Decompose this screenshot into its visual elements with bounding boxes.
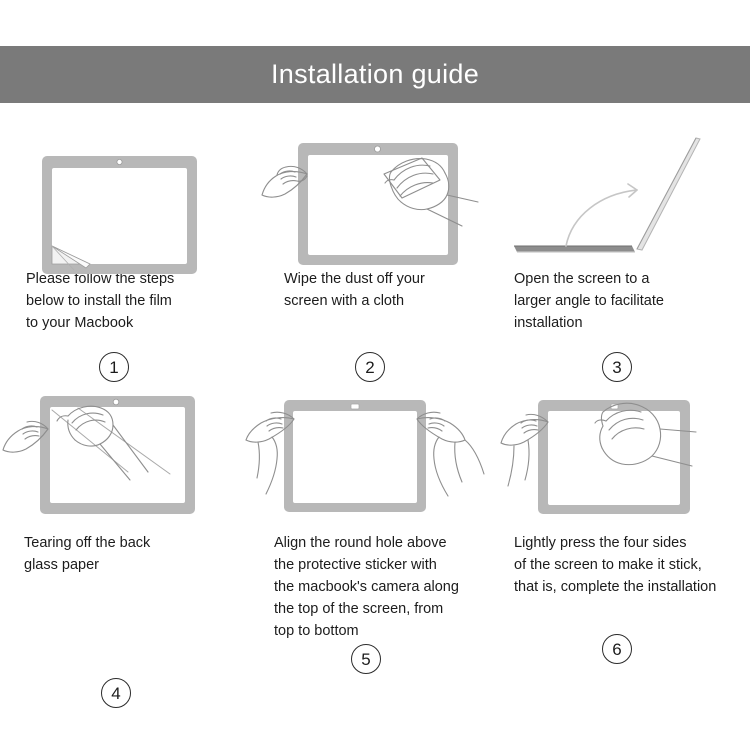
step-card-1: Please follow the steps below to install…	[0, 118, 250, 382]
step-3-caption: Open the screen to a larger angle to fac…	[500, 268, 750, 338]
two-hands-aligning-film-over-screen-icon	[250, 382, 500, 532]
step-2-figure	[250, 118, 500, 268]
hands-tearing-off-back-paper-icon	[0, 382, 250, 532]
step-number-badge: 6	[602, 634, 632, 664]
page-title: Installation guide	[271, 59, 479, 90]
step-6-caption: Lightly press the four sides of the scre…	[500, 532, 750, 602]
header-banner: Installation guide	[0, 46, 750, 103]
step-2-badge-row: 2	[240, 352, 500, 382]
step-number-badge: 1	[99, 352, 129, 382]
step-6-badge-row: 6	[484, 634, 750, 664]
step-3-figure	[500, 118, 750, 268]
step-1-badge-row: 1	[0, 352, 250, 382]
step-5-badge-row: 5	[232, 644, 500, 674]
hand-wiping-screen-with-cloth-icon	[250, 118, 500, 268]
step-number-badge: 5	[351, 644, 381, 674]
step-card-6: Lightly press the four sides of the scre…	[500, 382, 750, 708]
step-4-badge-row: 4	[0, 678, 250, 708]
hand-pressing-film-onto-screen-icon	[500, 382, 750, 532]
macbook-screen-with-peeling-film-corner-icon	[0, 118, 250, 268]
step-6-figure	[500, 382, 750, 532]
step-number-badge: 3	[602, 352, 632, 382]
laptop-side-profile-opening-arrow-icon	[500, 118, 750, 268]
step-number-badge: 2	[355, 352, 385, 382]
step-card-3: Open the screen to a larger angle to fac…	[500, 118, 750, 382]
step-card-2: Wipe the dust off your screen with a clo…	[250, 118, 500, 382]
step-1-figure	[0, 118, 250, 268]
step-3-badge-row: 3	[484, 352, 750, 382]
step-2-caption: Wipe the dust off your screen with a clo…	[250, 268, 500, 338]
step-5-figure	[250, 382, 500, 532]
step-4-caption: Tearing off the back glass paper	[0, 532, 250, 602]
step-1-caption: Please follow the steps below to install…	[0, 268, 250, 338]
step-5-caption: Align the round hole above the protectiv…	[250, 532, 500, 642]
step-card-4: Tearing off the back glass paper 4	[0, 382, 250, 708]
step-number-badge: 4	[101, 678, 131, 708]
steps-grid: Please follow the steps below to install…	[0, 118, 750, 708]
step-4-figure	[0, 382, 250, 532]
step-card-5: Align the round hole above the protectiv…	[250, 382, 500, 708]
